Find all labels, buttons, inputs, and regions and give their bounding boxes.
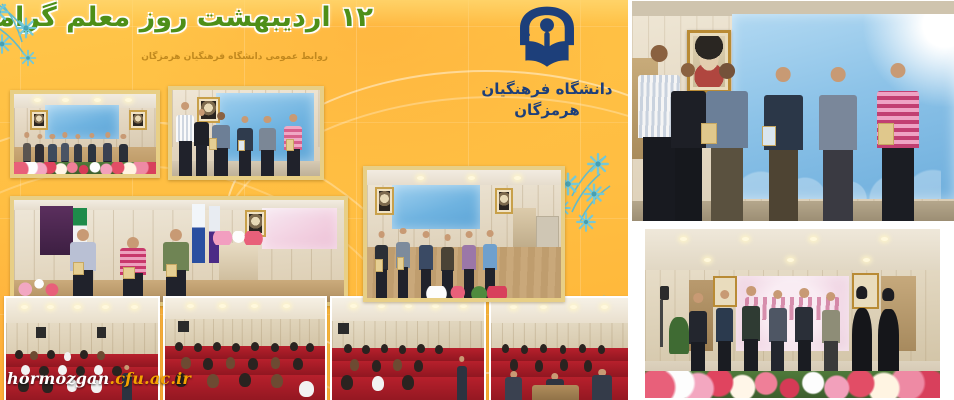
university-logo-block: دانشگاه فرهنگیان هرمزگان xyxy=(472,2,622,119)
watermark-primary: hormozgan xyxy=(7,369,109,388)
collage-photo[interactable] xyxy=(489,296,628,400)
right-photo-top[interactable] xyxy=(632,1,954,221)
open-book-person-logo-icon xyxy=(503,2,591,76)
logo-text-line-1: دانشگاه فرهنگیان xyxy=(472,80,622,98)
collage-photo[interactable] xyxy=(363,166,565,302)
collage-photo[interactable] xyxy=(330,296,486,400)
event-banner: ۱۲ اردیبهشت روز معلم گرامی باد. روابط عم… xyxy=(0,0,628,400)
watermark-secondary: .cfu.ac.ir xyxy=(109,369,191,388)
screenshot-root: ۱۲ اردیبهشت روز معلم گرامی باد. روابط عم… xyxy=(0,0,954,400)
collage-photo[interactable] xyxy=(10,90,160,178)
logo-text-line-2: هرمزگان xyxy=(472,101,622,119)
banner-headline: ۱۲ اردیبهشت روز معلم گرامی باد. xyxy=(43,2,373,33)
right-photo-bottom[interactable] xyxy=(645,229,940,398)
collage-photo[interactable] xyxy=(168,86,324,180)
site-watermark: hormozgan.cfu.ac.ir xyxy=(7,369,191,388)
collage-photo[interactable] xyxy=(10,196,348,306)
banner-subheadline: روابط عمومی دانشگاه فرهنگیان هرمزگان xyxy=(148,52,328,62)
